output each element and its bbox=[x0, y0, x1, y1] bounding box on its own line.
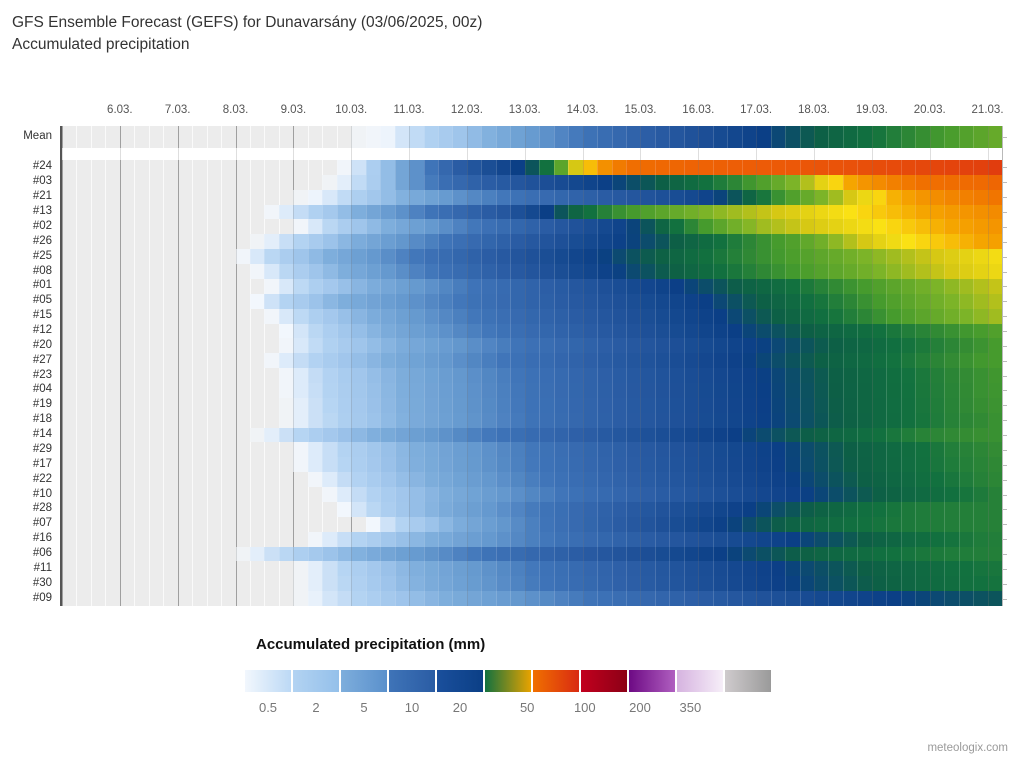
heatmap-cell bbox=[800, 264, 815, 279]
heatmap-cell bbox=[944, 219, 959, 234]
heatmap-cell bbox=[568, 324, 583, 339]
heatmap-cell bbox=[568, 338, 583, 353]
heatmap-cell bbox=[308, 472, 323, 487]
heatmap-cell bbox=[785, 309, 800, 324]
heatmap-cell bbox=[496, 264, 511, 279]
heatmap-cell bbox=[771, 279, 786, 294]
heatmap-cell bbox=[655, 190, 670, 205]
heatmap-cell bbox=[640, 502, 655, 517]
heatmap-cell bbox=[915, 126, 930, 148]
heatmap-cell bbox=[886, 264, 901, 279]
heatmap-cell bbox=[742, 205, 757, 220]
heatmap-cell bbox=[467, 190, 482, 205]
heatmap-cell bbox=[293, 353, 308, 368]
heatmap-cell bbox=[337, 502, 352, 517]
heatmap-cell bbox=[337, 532, 352, 547]
heatmap-row[interactable] bbox=[62, 205, 1002, 220]
heatmap-cell bbox=[973, 517, 988, 532]
heatmap-cell bbox=[351, 160, 366, 175]
heatmap-row[interactable] bbox=[62, 413, 1002, 428]
grid-line-step-overlay bbox=[496, 126, 497, 606]
heatmap-cell bbox=[756, 324, 771, 339]
heatmap-cell bbox=[424, 413, 439, 428]
heatmap-cell bbox=[279, 279, 294, 294]
heatmap-cell bbox=[293, 205, 308, 220]
heatmap-cell bbox=[380, 353, 395, 368]
heatmap-cell bbox=[293, 190, 308, 205]
heatmap-cell bbox=[785, 457, 800, 472]
heatmap-cell bbox=[568, 294, 583, 309]
grid-line-step-overlay bbox=[800, 126, 801, 606]
x-axis-tick-label: 19.03. bbox=[856, 104, 888, 116]
heatmap-cell bbox=[814, 591, 829, 606]
heatmap-cell bbox=[915, 175, 930, 190]
heatmap-cell bbox=[452, 532, 467, 547]
heatmap-cell bbox=[988, 398, 1002, 413]
heatmap-cell bbox=[452, 547, 467, 562]
x-axis-tick-label: 11.03. bbox=[394, 104, 425, 116]
heatmap-cell bbox=[857, 398, 872, 413]
heatmap-row[interactable] bbox=[62, 160, 1002, 175]
heatmap-cell bbox=[915, 294, 930, 309]
heatmap-cell bbox=[366, 338, 381, 353]
heatmap-cell bbox=[424, 383, 439, 398]
heatmap-cell bbox=[380, 160, 395, 175]
y-axis-row-label: #10 bbox=[33, 489, 52, 500]
heatmap-cell bbox=[915, 547, 930, 562]
heatmap-row[interactable] bbox=[62, 368, 1002, 383]
y-axis-tick bbox=[1002, 450, 1007, 451]
heatmap-cell bbox=[308, 442, 323, 457]
heatmap-cell bbox=[843, 517, 858, 532]
heatmap-cell bbox=[539, 472, 554, 487]
heatmap-cell bbox=[366, 190, 381, 205]
heatmap-cell bbox=[727, 190, 742, 205]
heatmap-cell bbox=[366, 249, 381, 264]
heatmap-cell bbox=[756, 398, 771, 413]
heatmap-cell bbox=[409, 413, 424, 428]
heatmap-cell bbox=[785, 126, 800, 148]
colorbar-segment bbox=[724, 669, 772, 693]
heatmap-cell bbox=[713, 175, 728, 190]
heatmap-cell bbox=[612, 532, 627, 547]
heatmap-cell bbox=[698, 126, 713, 148]
heatmap-cell bbox=[930, 234, 945, 249]
heatmap-cell bbox=[814, 428, 829, 443]
y-axis-row-label: #23 bbox=[33, 370, 52, 381]
grid-line-day-overlay bbox=[525, 126, 526, 606]
heatmap-cell bbox=[713, 249, 728, 264]
heatmap-cell bbox=[857, 547, 872, 562]
y-axis-row-label: #08 bbox=[33, 266, 52, 277]
heatmap-cell bbox=[742, 338, 757, 353]
heatmap-cell bbox=[409, 576, 424, 591]
heatmap-cell bbox=[612, 219, 627, 234]
heatmap-cell bbox=[915, 561, 930, 576]
heatmap-cell bbox=[395, 324, 410, 339]
heatmap-cell bbox=[366, 457, 381, 472]
heatmap-row[interactable] bbox=[62, 576, 1002, 591]
heatmap-cell bbox=[915, 234, 930, 249]
heatmap-cell bbox=[554, 591, 569, 606]
heatmap-cell bbox=[988, 324, 1002, 339]
heatmap-cell bbox=[771, 398, 786, 413]
heatmap-cell bbox=[684, 547, 699, 562]
heatmap-cell bbox=[655, 532, 670, 547]
heatmap-cell bbox=[640, 561, 655, 576]
heatmap-cell bbox=[409, 547, 424, 562]
heatmap-cell bbox=[930, 353, 945, 368]
heatmap-row[interactable] bbox=[62, 398, 1002, 413]
grid-line-step-overlay bbox=[901, 126, 902, 606]
heatmap-cell bbox=[814, 502, 829, 517]
heatmap-cell bbox=[467, 442, 482, 457]
heatmap-cell bbox=[857, 487, 872, 502]
heatmap-cell bbox=[814, 576, 829, 591]
heatmap-cell bbox=[568, 561, 583, 576]
heatmap-row[interactable] bbox=[62, 353, 1002, 368]
heatmap-cell bbox=[626, 368, 641, 383]
heatmap-cell bbox=[597, 338, 612, 353]
heatmap-cell bbox=[337, 547, 352, 562]
heatmap-cell bbox=[351, 368, 366, 383]
colorbar-tick-label: 50 bbox=[520, 700, 534, 715]
heatmap-cell bbox=[539, 576, 554, 591]
heatmap-cell bbox=[496, 532, 511, 547]
heatmap-cell bbox=[597, 591, 612, 606]
heatmap-cell bbox=[337, 338, 352, 353]
heatmap-cell bbox=[452, 413, 467, 428]
heatmap-row[interactable] bbox=[62, 264, 1002, 279]
heatmap-cell bbox=[959, 591, 974, 606]
heatmap-cell bbox=[351, 338, 366, 353]
heatmap-cell bbox=[713, 126, 728, 148]
heatmap-cell bbox=[438, 413, 453, 428]
heatmap-cell bbox=[872, 249, 887, 264]
y-axis-tick bbox=[1002, 390, 1007, 391]
y-axis-tick bbox=[1002, 420, 1007, 421]
heatmap-cell bbox=[626, 472, 641, 487]
heatmap-cell bbox=[684, 398, 699, 413]
grid-line-step-overlay bbox=[207, 126, 208, 606]
heatmap-cell bbox=[366, 472, 381, 487]
heatmap-cell bbox=[886, 205, 901, 220]
heatmap-cell bbox=[771, 324, 786, 339]
heatmap-cell bbox=[800, 249, 815, 264]
heatmap-row[interactable] bbox=[62, 487, 1002, 502]
heatmap-cell bbox=[452, 368, 467, 383]
heatmap-cell bbox=[554, 338, 569, 353]
heatmap-row[interactable] bbox=[62, 442, 1002, 457]
heatmap-cell bbox=[409, 324, 424, 339]
heatmap-cell bbox=[814, 561, 829, 576]
heatmap-cell bbox=[597, 428, 612, 443]
heatmap-cell bbox=[626, 175, 641, 190]
heatmap-row[interactable] bbox=[62, 532, 1002, 547]
heatmap-cell bbox=[756, 175, 771, 190]
heatmap-cell bbox=[785, 353, 800, 368]
heatmap-cell bbox=[944, 428, 959, 443]
heatmap-cell bbox=[452, 517, 467, 532]
heatmap-cell bbox=[655, 487, 670, 502]
heatmap-cell bbox=[857, 457, 872, 472]
heatmap-cell bbox=[612, 264, 627, 279]
heatmap-row[interactable] bbox=[62, 472, 1002, 487]
heatmap-cell bbox=[424, 190, 439, 205]
heatmap-cell bbox=[843, 234, 858, 249]
heatmap-cell bbox=[886, 442, 901, 457]
heatmap-cell bbox=[597, 205, 612, 220]
heatmap-cell bbox=[308, 338, 323, 353]
heatmap-cell bbox=[959, 398, 974, 413]
heatmap-cell bbox=[467, 249, 482, 264]
heatmap-cell bbox=[857, 561, 872, 576]
heatmap-cell bbox=[771, 413, 786, 428]
heatmap-cell bbox=[800, 383, 815, 398]
heatmap-cell bbox=[366, 591, 381, 606]
heatmap-cell bbox=[886, 591, 901, 606]
heatmap-cell bbox=[395, 264, 410, 279]
heatmap-cell bbox=[713, 517, 728, 532]
grid-line-step-overlay bbox=[684, 126, 685, 606]
heatmap-cell bbox=[785, 428, 800, 443]
heatmap-cell bbox=[554, 160, 569, 175]
heatmap-cell bbox=[554, 428, 569, 443]
heatmap-cell bbox=[872, 413, 887, 428]
heatmap-cell bbox=[568, 234, 583, 249]
heatmap-cell bbox=[843, 126, 858, 148]
heatmap-row[interactable] bbox=[62, 428, 1002, 443]
heatmap-row[interactable] bbox=[62, 338, 1002, 353]
heatmap-row[interactable] bbox=[62, 517, 1002, 532]
x-axis-tick-label: 20.03. bbox=[914, 104, 946, 116]
heatmap-cell bbox=[554, 279, 569, 294]
heatmap-cell bbox=[915, 398, 930, 413]
heatmap-cell bbox=[988, 175, 1002, 190]
grid-line-step-overlay bbox=[554, 126, 555, 606]
heatmap-cell bbox=[944, 591, 959, 606]
x-axis-tick-label: 10.03. bbox=[335, 104, 367, 116]
heatmap-cell bbox=[640, 264, 655, 279]
heatmap-cell bbox=[250, 294, 265, 309]
heatmap-cell bbox=[496, 219, 511, 234]
heatmap-cell bbox=[293, 309, 308, 324]
heatmap-cell bbox=[279, 264, 294, 279]
heatmap-cell bbox=[800, 160, 815, 175]
heatmap-cell bbox=[727, 547, 742, 562]
heatmap-row[interactable] bbox=[62, 547, 1002, 562]
grid-line-day-overlay bbox=[988, 126, 989, 606]
heatmap-cell bbox=[424, 294, 439, 309]
heatmap-cell bbox=[308, 576, 323, 591]
y-axis-tick bbox=[1002, 242, 1007, 243]
heatmap-cell bbox=[337, 234, 352, 249]
heatmap-cell bbox=[756, 249, 771, 264]
colorbar-tick-label: 5 bbox=[360, 700, 367, 715]
heatmap-cell bbox=[409, 205, 424, 220]
heatmap-cell bbox=[568, 279, 583, 294]
heatmap-cell bbox=[583, 234, 598, 249]
heatmap-row[interactable] bbox=[62, 219, 1002, 234]
heatmap-cell bbox=[828, 160, 843, 175]
heatmap-cell bbox=[886, 126, 901, 148]
heatmap-cell bbox=[366, 502, 381, 517]
heatmap-cell bbox=[973, 264, 988, 279]
heatmap-cell bbox=[525, 309, 540, 324]
y-axis-tick bbox=[1002, 554, 1007, 555]
heatmap-cell bbox=[727, 249, 742, 264]
heatmap-cell bbox=[872, 309, 887, 324]
heatmap-cell bbox=[626, 294, 641, 309]
heatmap-row[interactable] bbox=[62, 190, 1002, 205]
heatmap-cell bbox=[973, 428, 988, 443]
heatmap-cell bbox=[366, 219, 381, 234]
heatmap-row[interactable] bbox=[62, 457, 1002, 472]
heatmap-cell bbox=[655, 368, 670, 383]
heatmap-cell bbox=[380, 517, 395, 532]
heatmap-cell bbox=[481, 219, 496, 234]
heatmap-cell bbox=[901, 532, 916, 547]
heatmap-cell bbox=[308, 264, 323, 279]
heatmap-cell bbox=[944, 413, 959, 428]
heatmap-row[interactable] bbox=[62, 309, 1002, 324]
heatmap-cell bbox=[930, 576, 945, 591]
heatmap-cell bbox=[525, 126, 540, 148]
heatmap-cell bbox=[655, 294, 670, 309]
heatmap-cell bbox=[872, 264, 887, 279]
heatmap-cell bbox=[366, 126, 381, 148]
heatmap-cell bbox=[481, 126, 496, 148]
heatmap-cell bbox=[525, 413, 540, 428]
heatmap-cell bbox=[756, 517, 771, 532]
heatmap-cell bbox=[597, 532, 612, 547]
heatmap-row[interactable] bbox=[62, 249, 1002, 264]
heatmap-cell bbox=[669, 547, 684, 562]
heatmap-cell bbox=[409, 353, 424, 368]
heatmap-cell bbox=[539, 457, 554, 472]
heatmap-cell bbox=[409, 487, 424, 502]
colorbar-segment bbox=[388, 669, 436, 693]
heatmap-cell bbox=[843, 279, 858, 294]
heatmap-cell bbox=[640, 175, 655, 190]
heatmap-cell bbox=[944, 294, 959, 309]
heatmap-row[interactable] bbox=[62, 175, 1002, 190]
heatmap-cell bbox=[452, 561, 467, 576]
heatmap-cell bbox=[771, 175, 786, 190]
heatmap-cell bbox=[250, 249, 265, 264]
heatmap-cell bbox=[915, 517, 930, 532]
heatmap-cell bbox=[872, 561, 887, 576]
heatmap-cell bbox=[944, 368, 959, 383]
y-axis-row-label: #20 bbox=[33, 340, 52, 351]
heatmap-cell bbox=[785, 160, 800, 175]
heatmap-cell bbox=[351, 561, 366, 576]
heatmap-cell bbox=[293, 249, 308, 264]
heatmap-cell bbox=[771, 591, 786, 606]
heatmap-cell bbox=[409, 234, 424, 249]
heatmap-row[interactable] bbox=[62, 126, 1002, 148]
heatmap-row[interactable] bbox=[62, 234, 1002, 249]
heatmap-cell bbox=[380, 324, 395, 339]
heatmap-cell bbox=[771, 576, 786, 591]
grid-line-step-overlay bbox=[380, 126, 381, 606]
heatmap-row[interactable] bbox=[62, 591, 1002, 606]
heatmap-cell bbox=[467, 532, 482, 547]
heatmap-row[interactable] bbox=[62, 502, 1002, 517]
heatmap-cell bbox=[496, 547, 511, 562]
heatmap-cell bbox=[901, 175, 916, 190]
heatmap-cell bbox=[525, 279, 540, 294]
heatmap-row[interactable] bbox=[62, 294, 1002, 309]
heatmap-cell bbox=[684, 502, 699, 517]
heatmap-cell bbox=[452, 353, 467, 368]
heatmap-cell bbox=[337, 190, 352, 205]
heatmap-cell bbox=[727, 294, 742, 309]
heatmap-cell bbox=[640, 309, 655, 324]
heatmap-cell bbox=[915, 324, 930, 339]
heatmap-cell bbox=[337, 561, 352, 576]
heatmap-cell bbox=[597, 442, 612, 457]
heatmap-cell bbox=[597, 264, 612, 279]
heatmap-row[interactable] bbox=[62, 383, 1002, 398]
colorbar-tick-label: 20 bbox=[453, 700, 467, 715]
x-axis-tick-label: 12.03. bbox=[451, 104, 483, 116]
heatmap-cell bbox=[988, 205, 1002, 220]
heatmap-cell bbox=[481, 561, 496, 576]
heatmap-cell bbox=[583, 126, 598, 148]
heatmap-cell bbox=[395, 368, 410, 383]
heatmap-cell bbox=[583, 190, 598, 205]
heatmap-cell bbox=[973, 368, 988, 383]
heatmap-cell bbox=[409, 383, 424, 398]
grid-line-day-overlay bbox=[120, 126, 121, 606]
heatmap-cell bbox=[872, 368, 887, 383]
heatmap-row[interactable] bbox=[62, 324, 1002, 339]
heatmap-cell bbox=[322, 234, 337, 249]
heatmap-cell bbox=[525, 532, 540, 547]
heatmap-cell bbox=[886, 219, 901, 234]
heatmap-cell bbox=[684, 428, 699, 443]
heatmap-row[interactable] bbox=[62, 279, 1002, 294]
heatmap-cell bbox=[366, 309, 381, 324]
heatmap-cell bbox=[886, 532, 901, 547]
heatmap-cell bbox=[626, 249, 641, 264]
heatmap-cell bbox=[510, 502, 525, 517]
heatmap-cell bbox=[771, 160, 786, 175]
heatmap-cell bbox=[959, 428, 974, 443]
heatmap-cell bbox=[409, 368, 424, 383]
heatmap-cell bbox=[452, 324, 467, 339]
heatmap-cell bbox=[409, 591, 424, 606]
heatmap-row[interactable] bbox=[62, 561, 1002, 576]
heatmap-cell bbox=[901, 264, 916, 279]
x-axis-tick-label: 17.03. bbox=[740, 104, 772, 116]
heatmap-cell bbox=[366, 532, 381, 547]
grid-line-step-overlay bbox=[655, 126, 656, 606]
heatmap-cell bbox=[828, 532, 843, 547]
heatmap-cell bbox=[337, 279, 352, 294]
heatmap-cell bbox=[424, 264, 439, 279]
heatmap-cell bbox=[322, 338, 337, 353]
heatmap-cell bbox=[626, 126, 641, 148]
ensemble-heatmap[interactable] bbox=[62, 126, 1002, 606]
heatmap-cell bbox=[857, 353, 872, 368]
heatmap-cell bbox=[279, 383, 294, 398]
heatmap-cell bbox=[539, 205, 554, 220]
heatmap-cell bbox=[481, 591, 496, 606]
heatmap-cell bbox=[915, 190, 930, 205]
heatmap-cell bbox=[293, 413, 308, 428]
